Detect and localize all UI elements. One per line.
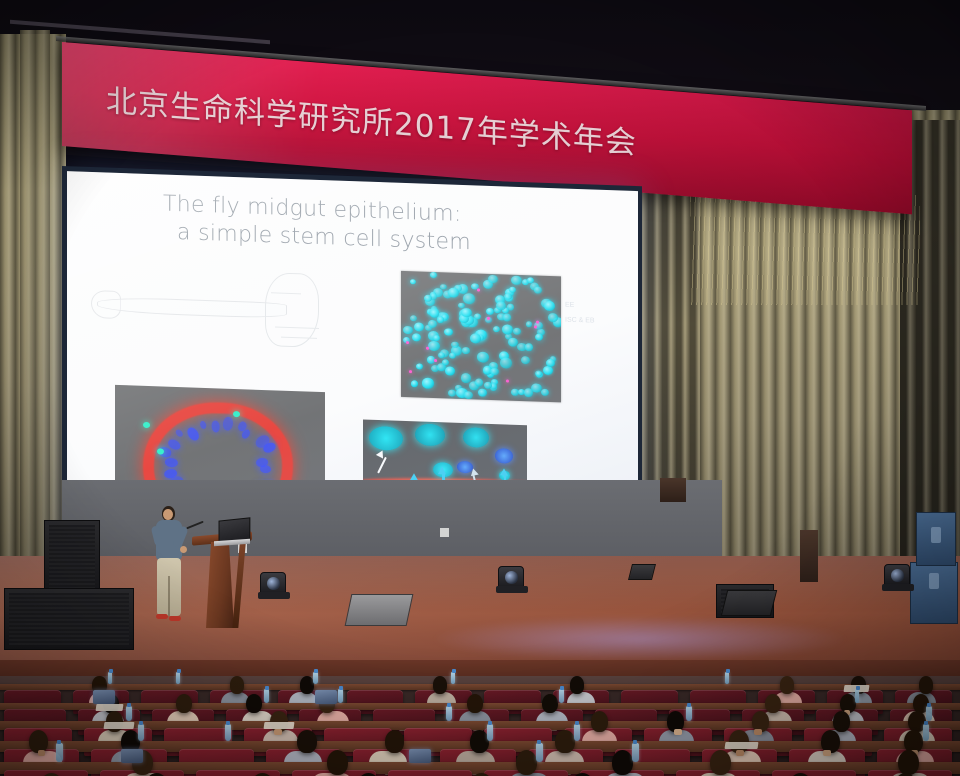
audience-head (385, 730, 404, 753)
nucleus (451, 341, 458, 348)
light-lens-icon (267, 577, 280, 590)
nucleus (444, 328, 452, 336)
audience-head (555, 730, 574, 753)
nucleus (503, 313, 512, 321)
legend-item-isc: ISC & EB (565, 313, 635, 330)
nucleus (513, 328, 521, 335)
nucleus (410, 279, 416, 285)
nucleus (428, 319, 437, 327)
nucleus (508, 338, 518, 347)
moving-head-light-center (498, 566, 524, 588)
audience-neck (274, 729, 281, 735)
water-bottle[interactable] (126, 706, 131, 721)
nucleus (478, 389, 486, 397)
audience-neck (674, 729, 681, 735)
nucleus (544, 301, 555, 311)
audience-head (300, 676, 314, 693)
fly-gut-schematic (89, 264, 319, 358)
handout-paper (264, 722, 295, 729)
nucleus (475, 379, 484, 387)
audience-laptop[interactable] (409, 749, 431, 763)
eb-arrow-icon (469, 468, 478, 477)
audience-head (833, 711, 851, 732)
water-bottle[interactable] (264, 689, 269, 703)
handout-paper (104, 722, 135, 729)
water-bottle[interactable] (855, 689, 860, 703)
ec-nucleus-4 (495, 448, 513, 464)
curtain-left-inner (20, 30, 50, 605)
pa-speaker-top-left (44, 520, 100, 598)
nucleus (411, 381, 419, 388)
audience-head (710, 750, 731, 775)
case-latch-upper (931, 527, 941, 543)
water-bottle[interactable] (313, 672, 317, 684)
ee-arrow-icon (500, 468, 508, 475)
light-lens-icon-right (891, 569, 904, 582)
audience-head (612, 750, 633, 775)
nucleus (448, 288, 460, 299)
nucleus (414, 323, 424, 332)
speaker-grille (49, 525, 95, 593)
audience-laptop[interactable] (121, 749, 143, 763)
nucleus (461, 307, 472, 317)
audience-head (919, 676, 933, 693)
water-bottle[interactable] (176, 672, 180, 684)
audience-laptop[interactable] (315, 690, 337, 704)
audience-head (765, 694, 781, 713)
audience-neck (754, 729, 761, 735)
nucleus (449, 352, 456, 359)
ec-nucleus-2 (415, 423, 445, 446)
floor-monitor-back (628, 564, 656, 580)
light-lens-icon-center (505, 571, 518, 584)
presenter-hand (180, 546, 187, 553)
moving-head-light-left (260, 572, 286, 594)
magenta-marker (477, 289, 480, 292)
water-bottle[interactable] (338, 689, 343, 703)
podium (196, 534, 248, 630)
nucleus (430, 309, 440, 318)
cyan-nuclei-micrograph (401, 271, 561, 403)
nucleus (422, 378, 433, 388)
nucleus (428, 341, 440, 352)
nucleus (416, 363, 423, 369)
audience-head (470, 730, 489, 753)
stage-light-spill (430, 616, 850, 662)
nucleus (437, 316, 444, 323)
moving-head-light-right (884, 564, 910, 586)
presenter-face (163, 509, 173, 520)
nucleus (525, 343, 534, 351)
nucleus (484, 382, 492, 389)
nucleus (490, 368, 498, 376)
nucleus (474, 314, 481, 320)
nucleus (462, 347, 469, 353)
handout-paper (96, 704, 124, 711)
water-bottle[interactable] (56, 743, 63, 762)
podium-leg (232, 544, 245, 628)
case-latch (929, 573, 939, 589)
audience-head (176, 694, 192, 713)
nucleus (534, 287, 541, 294)
nucleus (527, 277, 534, 284)
water-bottle[interactable] (487, 724, 493, 741)
ec-pointer (377, 457, 387, 474)
nucleus (511, 275, 522, 285)
nucleus (464, 391, 473, 399)
magenta-marker (434, 359, 437, 362)
presenter-shoe-right (169, 616, 181, 621)
presenter-shoe-left (156, 614, 168, 619)
nucleus (502, 325, 513, 335)
magenta-marker (506, 380, 509, 383)
nucleus (535, 370, 542, 376)
nucleus (509, 286, 516, 292)
ec-nucleus-3 (463, 427, 489, 448)
slide-title: The fly midgut epithelium: a simple stem… (163, 191, 593, 261)
audience-head (327, 750, 348, 775)
audience-head (780, 676, 794, 693)
slide-title-line2: a simple stem cell system (163, 218, 593, 261)
nucleus (412, 334, 421, 342)
audience-head (297, 730, 316, 753)
stage-post (800, 530, 818, 582)
nucleus (438, 352, 445, 358)
nucleus (504, 293, 511, 300)
water-bottle[interactable] (225, 724, 231, 741)
nucleus (546, 359, 555, 367)
nucleus (448, 390, 456, 397)
water-bottle[interactable] (632, 743, 639, 762)
pa-subwoofer-left (4, 588, 134, 650)
nucleus (410, 315, 417, 321)
nucleus (493, 326, 500, 332)
nucleus (430, 272, 437, 278)
ec-nucleus-1 (369, 426, 403, 451)
water-bottle[interactable] (451, 672, 455, 684)
nucleus (463, 293, 475, 304)
floor-monitor-center (345, 594, 414, 626)
nucleus (541, 389, 549, 396)
nucleus (488, 275, 497, 283)
nucleus (470, 333, 482, 344)
magenta-marker (426, 347, 429, 350)
water-bottle[interactable] (536, 743, 543, 762)
nucleus (526, 322, 533, 328)
audience-laptop[interactable] (93, 690, 115, 704)
gfp-positive-cell (143, 422, 150, 428)
audience-head (591, 711, 609, 732)
nucleus (521, 356, 530, 364)
water-bottle[interactable] (108, 672, 112, 684)
magenta-marker (409, 370, 412, 373)
nucleus (500, 357, 512, 368)
floor-monitor-right (721, 590, 777, 616)
water-bottle[interactable] (725, 672, 729, 684)
audience-head (246, 694, 262, 713)
audience-head (898, 750, 919, 775)
audience-head (542, 694, 558, 713)
light-base-right (882, 584, 914, 591)
water-bottle[interactable] (138, 724, 144, 741)
blue-case-upper (916, 512, 956, 566)
nucleus (548, 313, 558, 322)
isc-arrow-icon (438, 466, 446, 474)
gfp-positive-cell (157, 448, 164, 454)
audience-head (467, 694, 483, 713)
lecture-hall-photo: 北京生命科学研究所2017年学术年会 The fly midgut epithe… (0, 0, 960, 776)
nucleus (486, 308, 494, 315)
water-bottle[interactable] (686, 706, 691, 721)
audience-head (230, 676, 244, 693)
audience-seating (0, 688, 960, 776)
nucleus (535, 333, 543, 340)
subwoofer-grille (9, 593, 129, 645)
blue-case-tall (910, 562, 958, 624)
theater-seat[interactable] (388, 770, 472, 776)
podium-body (206, 542, 234, 628)
wall-outlet-plate-1 (440, 528, 449, 537)
magenta-marker (406, 341, 409, 344)
leg-separation (168, 576, 170, 616)
nucleus (442, 359, 449, 366)
light-base (258, 592, 290, 599)
water-bottle[interactable] (446, 706, 451, 721)
nucleus (524, 388, 534, 397)
presenter-legs (157, 558, 181, 616)
audience-head (570, 676, 584, 693)
light-base-center (496, 586, 528, 593)
theater-seat[interactable] (772, 770, 856, 776)
water-bottle[interactable] (574, 724, 580, 741)
handout-paper (724, 742, 758, 749)
gfp-positive-cell (233, 411, 240, 417)
audience-head (516, 750, 537, 775)
nucleus (445, 367, 455, 376)
slide-legend: EE ISC & EB (565, 299, 635, 331)
nucleus (440, 284, 446, 290)
stage-stool (660, 478, 686, 502)
schematic-midgut (97, 296, 287, 319)
audience-head (433, 676, 447, 693)
water-bottle[interactable] (926, 706, 931, 721)
nucleus (477, 352, 489, 363)
nucleus (403, 326, 412, 334)
water-bottle[interactable] (923, 724, 929, 741)
water-bottle[interactable] (559, 689, 564, 703)
